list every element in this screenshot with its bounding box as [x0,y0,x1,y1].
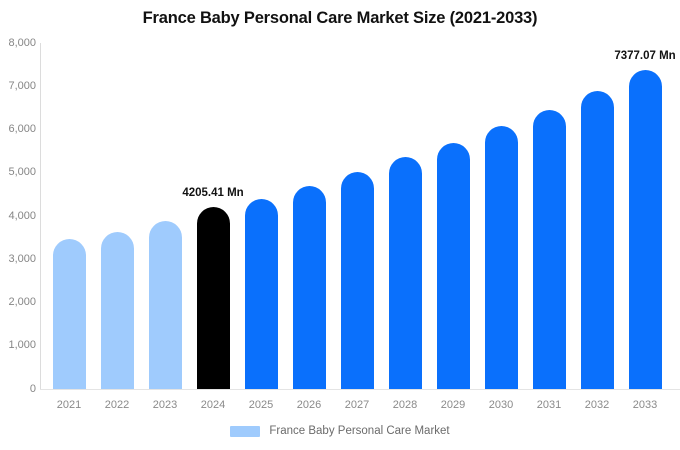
bar-2022[interactable] [101,232,134,389]
legend-label: France Baby Personal Care Market [269,425,449,437]
legend-swatch-icon [230,426,260,437]
x-axis-tick-label: 2021 [45,399,93,411]
x-axis-tick-label: 2023 [141,399,189,411]
bars-layer [0,0,680,450]
bar-2027[interactable] [341,172,374,389]
bar-2021[interactable] [53,239,86,389]
x-axis-tick-label: 2032 [573,399,621,411]
x-axis-tick-label: 2031 [525,399,573,411]
value-label-2033: 7377.07 Mn [614,50,675,62]
x-axis-tick-label: 2027 [333,399,381,411]
bar-2031[interactable] [533,110,566,389]
chart-legend: France Baby Personal Care Market [0,425,680,437]
bar-2029[interactable] [437,143,470,389]
bar-2025[interactable] [245,199,278,389]
value-label-2024: 4205.41 Mn [182,187,243,199]
bar-chart: France Baby Personal Care Market Size (2… [0,0,680,450]
x-axis-tick-label: 2024 [189,399,237,411]
bar-2032[interactable] [581,91,614,389]
bar-2033[interactable] [629,70,662,389]
x-axis-tick-label: 2022 [93,399,141,411]
x-axis-tick-label: 2026 [285,399,333,411]
bar-2030[interactable] [485,126,518,389]
x-axis-tick-label: 2030 [477,399,525,411]
x-axis-tick-label: 2029 [429,399,477,411]
bar-2026[interactable] [293,186,326,389]
bar-2023[interactable] [149,221,182,389]
x-axis-tick-label: 2028 [381,399,429,411]
bar-2024[interactable] [197,207,230,389]
bar-2028[interactable] [389,157,422,389]
x-axis-tick-label: 2025 [237,399,285,411]
x-axis-tick-label: 2033 [621,399,669,411]
